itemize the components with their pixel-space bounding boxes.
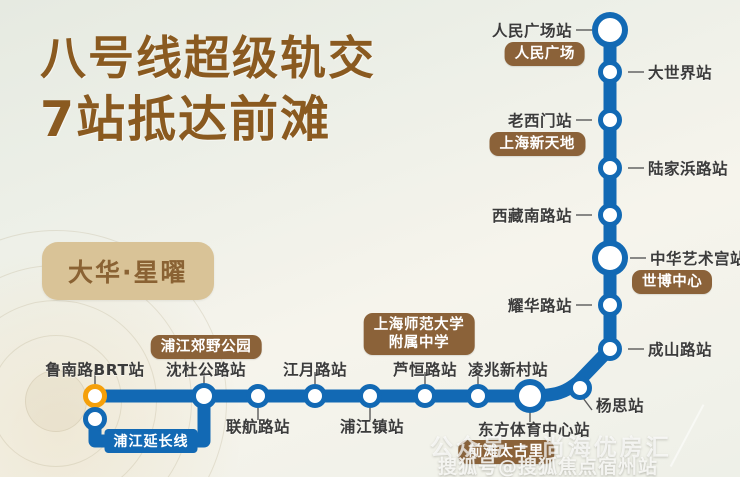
brand-badge: 大华·星曜 (42, 242, 214, 300)
school-tag-line-1: 上海师范大学 (374, 316, 465, 334)
station-label-xizang-nanlu: 西藏南路站 (492, 204, 572, 226)
brand-name: 大华·星曜 (68, 258, 188, 287)
horizontal-station-dots (86, 382, 545, 429)
station-label-lianhang-lu: 联航路站 (226, 415, 290, 437)
branch-line-label: 浦江延长线 (105, 429, 198, 453)
headline-line-2: 7站抵达前滩 (40, 94, 376, 147)
station-tag-renmin-guangchang: 人民广场 (505, 42, 585, 66)
metro-line-poster: 八号线超级轨交 7站抵达前滩 大华·星曜 (0, 0, 740, 477)
station-label-pujiangzhen: 浦江镇站 (340, 415, 404, 437)
station-label-chengshan-lu: 成山路站 (648, 338, 712, 360)
station-label-lujiabang-lu: 陆家浜路站 (648, 157, 728, 179)
station-label-shendu-gonglu: 沈杜公路站 (166, 358, 246, 380)
station-tag-shanghai-xintiandi: 上海新天地 (490, 132, 586, 156)
station-label-jiangyue-lu: 江月路站 (283, 358, 347, 380)
vertical-station-dots (571, 15, 626, 398)
station-tag-pujiang-jiaoye-gongyuan: 浦江郊野公园 (151, 335, 262, 359)
station-label-zhonghua-yishugong: 中华艺术宫站 (650, 247, 740, 269)
station-label-dashijie: 大世界站 (648, 61, 712, 83)
station-label-lunan-lu-brt: 鲁南路BRT站 (45, 358, 144, 380)
station-label-laoximen: 老西门站 (508, 109, 572, 131)
headline-block: 八号线超级轨交 7站抵达前滩 (40, 34, 376, 147)
headline-line-1: 八号线超级轨交 (40, 34, 376, 84)
station-label-renmin-guangchang: 人民广场站 (492, 19, 572, 41)
station-label-yangsi: 杨思站 (596, 394, 644, 416)
station-label-yaohua-lu: 耀华路站 (508, 294, 572, 316)
station-tag-shibo-zhongxin: 世博中心 (632, 270, 712, 294)
station-label-lingzhao-xincun: 凌兆新村站 (468, 358, 548, 380)
school-tag-line-2: 附属中学 (374, 334, 465, 352)
station-tag-shanghai-shifan-fuzhong: 上海师范大学 附属中学 (364, 313, 475, 355)
station-label-luheng-lu: 芦恒路站 (393, 358, 457, 380)
watermark-secondary: 搜狐号@搜狐焦点宿州站 (438, 452, 658, 477)
